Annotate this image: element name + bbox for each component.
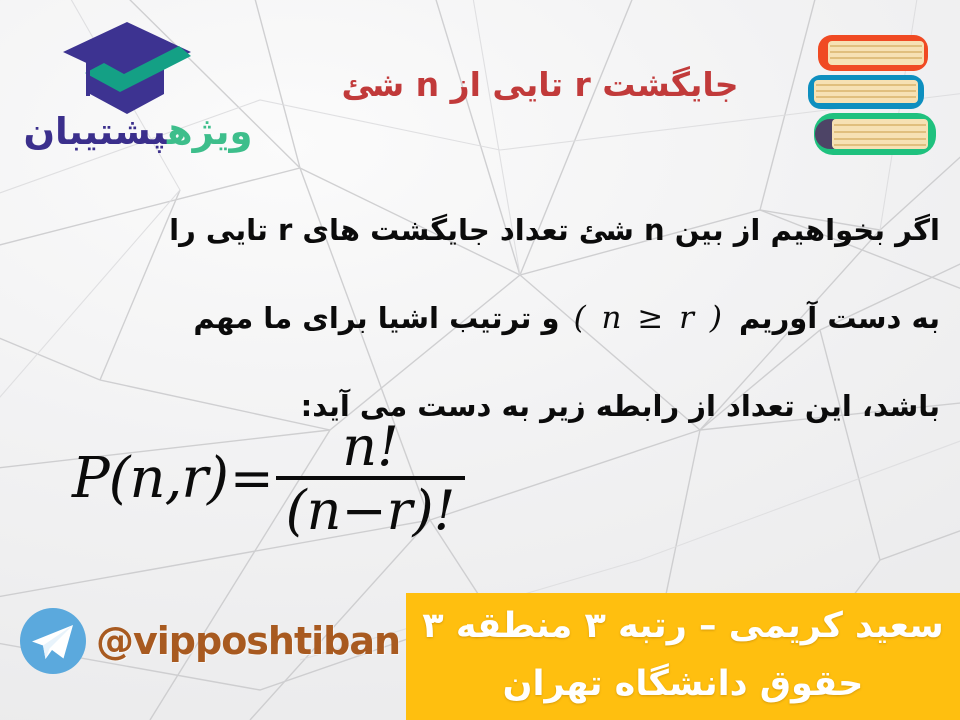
brand-wordmark-dark: پشتیبان <box>23 110 167 153</box>
page-title: جایگشت r تایی از n شئ <box>290 66 790 104</box>
formula-equals-sign: = <box>228 449 276 509</box>
formula-left-hand-side: P(n,r) <box>72 446 228 511</box>
body-line-2-prefix: به دست آوریم <box>739 301 940 335</box>
credit-line-2: حقوق دانشگاه تهران <box>406 655 960 713</box>
brand-wordmark-green: ویژه <box>167 110 253 153</box>
telegram-handle-label[interactable]: @vipposhtiban <box>96 619 400 663</box>
lesson-body-text: اگر بخواهیم از بین n شئ تعداد جایگشت های… <box>30 186 940 450</box>
inline-math-constraint: ( n ≥ r ) <box>560 274 739 362</box>
brand-wordmark: ویژهپشتیبان <box>8 110 268 153</box>
slide-canvas: ویژهپشتیبان جایگشت r تایی از n شئ <box>0 0 960 720</box>
permutation-formula: P(n,r) = n! (n−r)! <box>72 418 465 540</box>
body-line-1: اگر بخواهیم از بین n شئ تعداد جایگشت های… <box>30 186 940 274</box>
formula-fraction: n! (n−r)! <box>276 420 466 540</box>
credit-line-1: سعید کریمی – رتبه ۳ منطقه ۳ <box>406 597 960 655</box>
stacked-books-icon <box>800 25 948 165</box>
body-line-2: به دست آوریم( n ≥ r )و ترتیب اشیا برای م… <box>30 274 940 362</box>
body-line-2-suffix: و ترتیب اشیا برای ما مهم <box>193 301 559 335</box>
instructor-credit-banner: سعید کریمی – رتبه ۳ منطقه ۳ حقوق دانشگاه… <box>406 593 960 720</box>
telegram-contact[interactable]: @vipposhtiban <box>18 606 400 676</box>
formula-denominator: (n−r)! <box>276 480 466 540</box>
brand-logo: ویژهپشتیبان <box>8 10 268 168</box>
telegram-icon[interactable] <box>18 606 88 676</box>
graduation-cap-icon <box>60 18 195 118</box>
formula-numerator: n! <box>316 420 424 476</box>
